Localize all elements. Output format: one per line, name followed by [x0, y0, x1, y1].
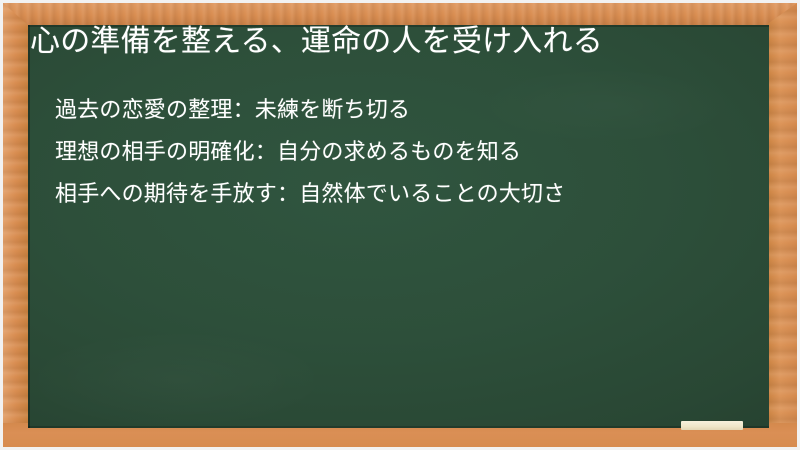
slide-content: 心の準備を整える、運命の人を受け入れる 過去の恋愛の整理：未練を断ち切る 理想の…	[30, 22, 742, 220]
bullet-list: 過去の恋愛の整理：未練を断ち切る 理想の相手の明確化：自分の求めるものを知る 相…	[30, 94, 742, 211]
frame-plank-left	[3, 3, 28, 447]
chalk-stick-icon	[681, 421, 743, 430]
list-item: 過去の恋愛の整理：未練を断ち切る	[55, 94, 742, 127]
slide-title: 心の準備を整える、運命の人を受け入れる	[30, 22, 742, 63]
list-item: 相手への期待を手放す：自然体でいることの大切さ	[55, 178, 742, 211]
frame-plank-right	[766, 3, 797, 447]
chalkboard-slide: 心の準備を整える、運命の人を受け入れる 過去の恋愛の整理：未練を断ち切る 理想の…	[0, 0, 800, 450]
list-item: 理想の相手の明確化：自分の求めるものを知る	[55, 136, 742, 169]
board-inner-shadow-bottom	[28, 426, 769, 428]
